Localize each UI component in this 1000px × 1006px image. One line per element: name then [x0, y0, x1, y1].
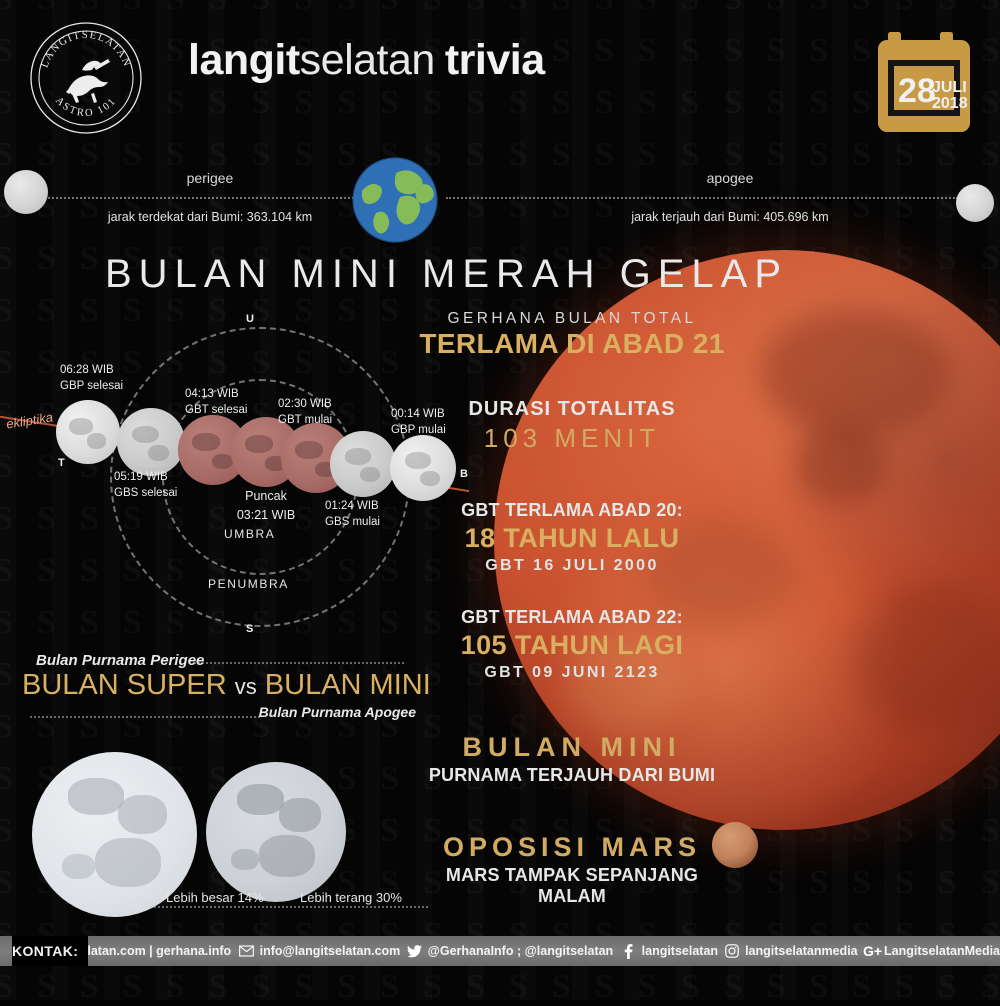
compare-title-vs: vs	[235, 674, 257, 699]
eclipse-path-diagram: ekliptika 06:28 WIB GBP selesai 05:19 WI…	[0, 305, 470, 645]
century22-value: 105 TAHUN LAGI	[412, 630, 732, 661]
mars-sub: MARS TAMPAK SEPANJANG MALAM	[412, 865, 732, 907]
compare-size-note: Lebih besar 14%	[166, 890, 264, 905]
century20-value: 18 TAHUN LALU	[412, 523, 732, 554]
logo-ring-top-text: LANGITSELATAN	[39, 30, 132, 69]
peak-time: 03:21 WIB	[237, 508, 295, 522]
mars-title: OPOSISI MARS	[412, 832, 732, 863]
cardinal-east: T	[58, 457, 65, 469]
century20-date: GBT 16 JULI 2000	[412, 557, 732, 575]
mini-moon-block: BULAN MINI PURNAMA TERJAUH DARI BUMI	[412, 732, 732, 786]
phase-time-1: 05:19 WIB	[114, 471, 168, 483]
mini-moon-title: BULAN MINI	[412, 732, 732, 763]
apogee-moon-icon	[956, 184, 994, 222]
contact-facebook-text: langitselatan	[642, 944, 718, 958]
svg-text:LANGITSELATAN: LANGITSELATAN	[39, 30, 132, 69]
earth-globe-icon	[352, 157, 438, 243]
calendar-year: 2018	[932, 95, 968, 112]
compare-dash-size	[150, 906, 428, 908]
phase-label-gbt-selesai: 04:13 WIB GBT selesai	[185, 387, 247, 418]
phase-event-0: GBP selesai	[60, 380, 123, 392]
facebook-icon	[621, 944, 636, 959]
ecliptic-label: ekliptika	[5, 409, 54, 431]
apogee-distance: jarak terjauh dari Bumi: 405.696 km	[570, 210, 890, 224]
contact-email-text: info@langitselatan.com	[260, 944, 401, 958]
contact-email[interactable]: info@langitselatan.com	[239, 944, 401, 959]
calendar-month: JULI	[932, 79, 967, 96]
perigee-distance: jarak terdekat dari Bumi: 363.104 km	[60, 210, 360, 224]
phase-time-2: 04:13 WIB	[185, 388, 239, 400]
compare-title-left: BULAN SUPER	[22, 669, 227, 701]
apogee-label: apogee	[640, 170, 820, 186]
logo-rider-emblem	[66, 59, 110, 103]
phase-time-0: 06:28 WIB	[60, 364, 114, 376]
totality-value: 103 MENIT	[412, 423, 732, 454]
brand-trivia: trivia	[445, 36, 545, 84]
contact-label: KONTAK:	[12, 936, 88, 966]
mail-icon	[239, 944, 254, 959]
twitter-icon	[407, 944, 422, 959]
compare-bright-note: Lebih terang 30%	[300, 890, 402, 905]
contact-googleplus-text: LangitselatanMedia	[884, 944, 1000, 958]
century20-block: GBT TERLAMA ABAD 20: 18 TAHUN LALU GBT 1…	[412, 500, 732, 575]
peak-caption: Puncak	[245, 489, 287, 503]
penumbra-label: PENUMBRA	[208, 577, 289, 591]
contact-twitter-text: @GerhanaInfo ; @langitselatan	[428, 944, 614, 958]
compare-title-right: BULAN MINI	[265, 669, 431, 701]
contact-facebook[interactable]: langitselatan	[621, 944, 718, 959]
eclipse-kind-block: GERHANA BULAN TOTAL TERLAMA DI ABAD 21	[412, 310, 732, 360]
compare-title: BULAN SUPER vs BULAN MINI	[22, 669, 422, 702]
eclipse-record: TERLAMA DI ABAD 21	[412, 328, 732, 360]
contact-instagram-text: langitselatanmedia	[745, 944, 858, 958]
watermark-row: SSSSSSSSSSSSSSSSSSSSSSSSSSSSSSSS	[0, 968, 1000, 1006]
mars-planet-icon	[712, 822, 758, 868]
moon-phase-gbp-selesai	[56, 400, 120, 464]
facts-column: GERHANA BULAN TOTAL TERLAMA DI ABAD 21 D…	[412, 310, 732, 913]
contact-twitter[interactable]: @GerhanaInfo ; @langitselatan	[407, 944, 614, 959]
moon-phase-gbs-mulai	[330, 431, 396, 497]
mars-opposition-block: OPOSISI MARS MARS TAMPAK SEPANJANG MALAM	[412, 832, 732, 907]
totality-block: DURASI TOTALITAS 103 MENIT	[412, 398, 732, 454]
contact-googleplus[interactable]: G+ LangitselatanMedia	[863, 944, 1000, 959]
phase-time-4: 01:24 WIB	[325, 500, 379, 512]
instagram-icon	[724, 944, 739, 959]
phase-time-3: 02:30 WIB	[278, 398, 332, 410]
logo-ring-bottom-text: ASTRO 101	[53, 95, 119, 119]
cardinal-north: U	[246, 313, 254, 325]
umbra-label: UMBRA	[224, 527, 275, 541]
mini-moon-sub: PURNAMA TERJAUH DARI BUMI	[412, 765, 732, 786]
supermoon-vs-minimoon: Bulan Purnama Perigee BULAN SUPER vs BUL…	[22, 652, 422, 720]
orbit-line-right	[446, 197, 958, 199]
phase-label-gbs-mulai: 01:24 WIB GBS mulai	[325, 499, 380, 530]
phase-event-4: GBS mulai	[325, 516, 380, 528]
cardinal-south: S	[246, 623, 253, 635]
svg-text:ASTRO 101: ASTRO 101	[53, 95, 119, 119]
peak-label: Puncak 03:21 WIB	[222, 487, 310, 525]
header: LANGITSELATAN ASTRO 101 langitselatantri…	[0, 0, 1000, 150]
page-title: langitselatantrivia	[188, 38, 545, 83]
contact-footer: langitselatan.com | gerhana.info info@la…	[0, 936, 1000, 966]
phase-label-gbp-selesai: 06:28 WIB GBP selesai	[60, 363, 123, 394]
moon-phase-gbs-selesai	[117, 408, 185, 476]
eclipse-kind: GERHANA BULAN TOTAL	[412, 310, 732, 328]
langitselatan-logo: LANGITSELATAN ASTRO 101	[28, 20, 144, 136]
century20-label: GBT TERLAMA ABAD 20:	[412, 500, 732, 521]
century22-block: GBT TERLAMA ABAD 22: 105 TAHUN LAGI GBT …	[412, 607, 732, 682]
main-headline: BULAN MINI MERAH GELAP	[105, 252, 788, 297]
totality-label: DURASI TOTALITAS	[412, 398, 732, 421]
perigee-moon-icon	[4, 170, 48, 214]
compare-dash-top	[194, 662, 404, 664]
compare-dash-bottom	[30, 716, 260, 718]
minimoon-disc	[206, 762, 346, 902]
orbit-band: perigee jarak terdekat dari Bumi: 363.10…	[0, 150, 1000, 260]
compare-top-note: Bulan Purnama Perigee	[22, 652, 422, 669]
contact-instagram[interactable]: langitselatanmedia	[724, 944, 858, 959]
phase-label-gbt-mulai: 02:30 WIB GBT mulai	[278, 397, 332, 428]
brand-light: selatan	[300, 36, 435, 84]
calendar-icon: 28 JULI 2018	[876, 28, 976, 136]
century22-label: GBT TERLAMA ABAD 22:	[412, 607, 732, 628]
logo-svg: LANGITSELATAN ASTRO 101	[28, 20, 144, 136]
googleplus-icon: G+	[863, 944, 882, 959]
phase-event-2: GBT selesai	[185, 404, 247, 416]
orbit-line-left	[40, 197, 370, 199]
phase-event-3: GBT mulai	[278, 414, 332, 426]
calendar-day: 28	[898, 72, 936, 110]
perigee-label: perigee	[120, 170, 300, 186]
brand-bold: langit	[188, 36, 300, 84]
century22-date: GBT 09 JUNI 2123	[412, 664, 732, 682]
phase-label-gbs-selesai: 05:19 WIB GBS selesai	[114, 470, 177, 501]
phase-event-1: GBS selesai	[114, 487, 177, 499]
